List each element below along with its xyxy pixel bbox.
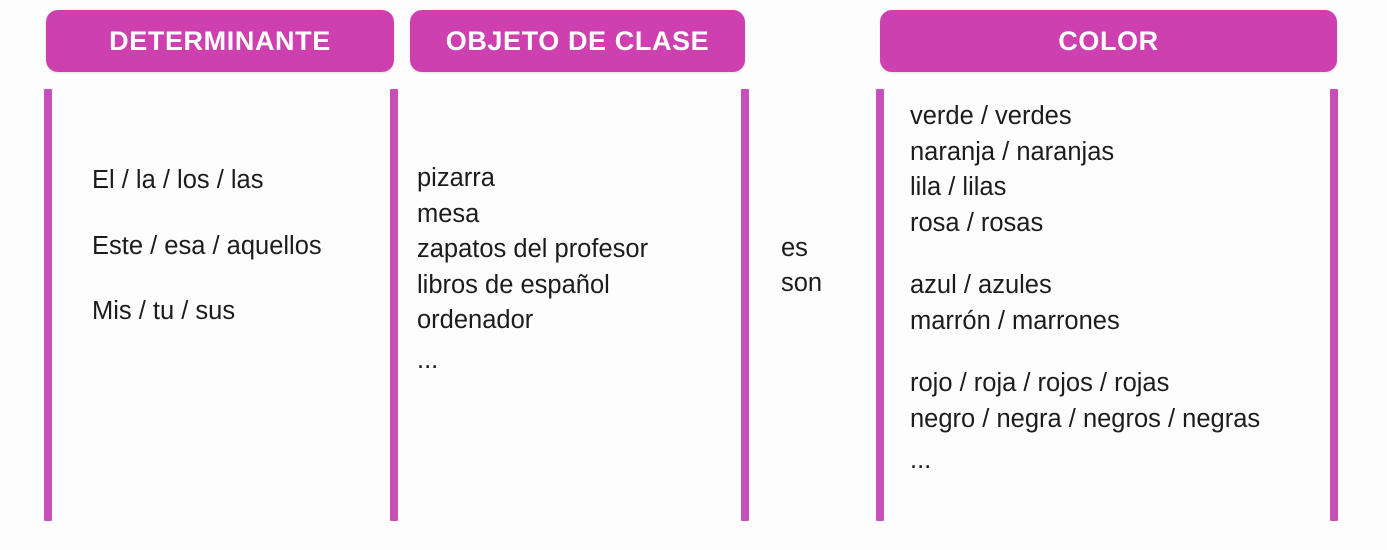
color-line: azul / azules xyxy=(910,273,1260,299)
header-pill-objeto-de-clase: OBJETO DE CLASE xyxy=(410,10,745,72)
column-objeto-de-clase: pizarra mesa zapatos del profesor libros… xyxy=(417,166,648,373)
objeto-ellipsis: ... xyxy=(417,348,648,374)
color-group-2: azul / azules marrón / marrones xyxy=(910,273,1260,334)
color-line: naranja / naranjas xyxy=(910,140,1260,166)
column-determinante: El / la / los / las Este / esa / aquello… xyxy=(92,168,322,325)
divider-bar-2 xyxy=(390,89,398,521)
color-line: rojo / roja / rojos / rojas xyxy=(910,371,1260,397)
column-verb-forms: es son xyxy=(781,236,822,296)
color-line: marrón / marrones xyxy=(910,309,1260,335)
color-line: verde / verdes xyxy=(910,104,1260,130)
determinante-line: El / la / los / las xyxy=(92,168,322,194)
objeto-line: ordenador xyxy=(417,308,648,334)
verb-line: son xyxy=(781,271,822,297)
verb-line: es xyxy=(781,236,822,262)
color-group-1: verde / verdes naranja / naranjas lila /… xyxy=(910,104,1260,236)
divider-bar-1 xyxy=(44,89,52,521)
divider-bar-5 xyxy=(1330,89,1338,521)
diagram-canvas: DETERMINANTE OBJETO DE CLASE COLOR El / … xyxy=(0,0,1387,550)
header-label-color: COLOR xyxy=(1058,26,1159,57)
color-line: lila / lilas xyxy=(910,175,1260,201)
header-pill-determinante: DETERMINANTE xyxy=(46,10,394,72)
color-line: negro / negra / negros / negras xyxy=(910,407,1260,433)
header-label-objeto-de-clase: OBJETO DE CLASE xyxy=(446,26,710,57)
header-pill-color: COLOR xyxy=(880,10,1337,72)
determinante-line: Mis / tu / sus xyxy=(92,299,322,325)
determinante-line: Este / esa / aquellos xyxy=(92,234,322,260)
objeto-line: mesa xyxy=(417,202,648,228)
color-line: rosa / rosas xyxy=(910,211,1260,237)
divider-bar-4 xyxy=(876,89,884,521)
color-group-3: rojo / roja / rojos / rojas negro / negr… xyxy=(910,371,1260,474)
column-color: verde / verdes naranja / naranjas lila /… xyxy=(910,104,1260,474)
objeto-line: zapatos del profesor xyxy=(417,237,648,263)
objeto-line: pizarra xyxy=(417,166,648,192)
color-ellipsis: ... xyxy=(910,448,1260,474)
objeto-line: libros de español xyxy=(417,273,648,299)
divider-bar-3 xyxy=(741,89,749,521)
header-label-determinante: DETERMINANTE xyxy=(109,26,331,57)
